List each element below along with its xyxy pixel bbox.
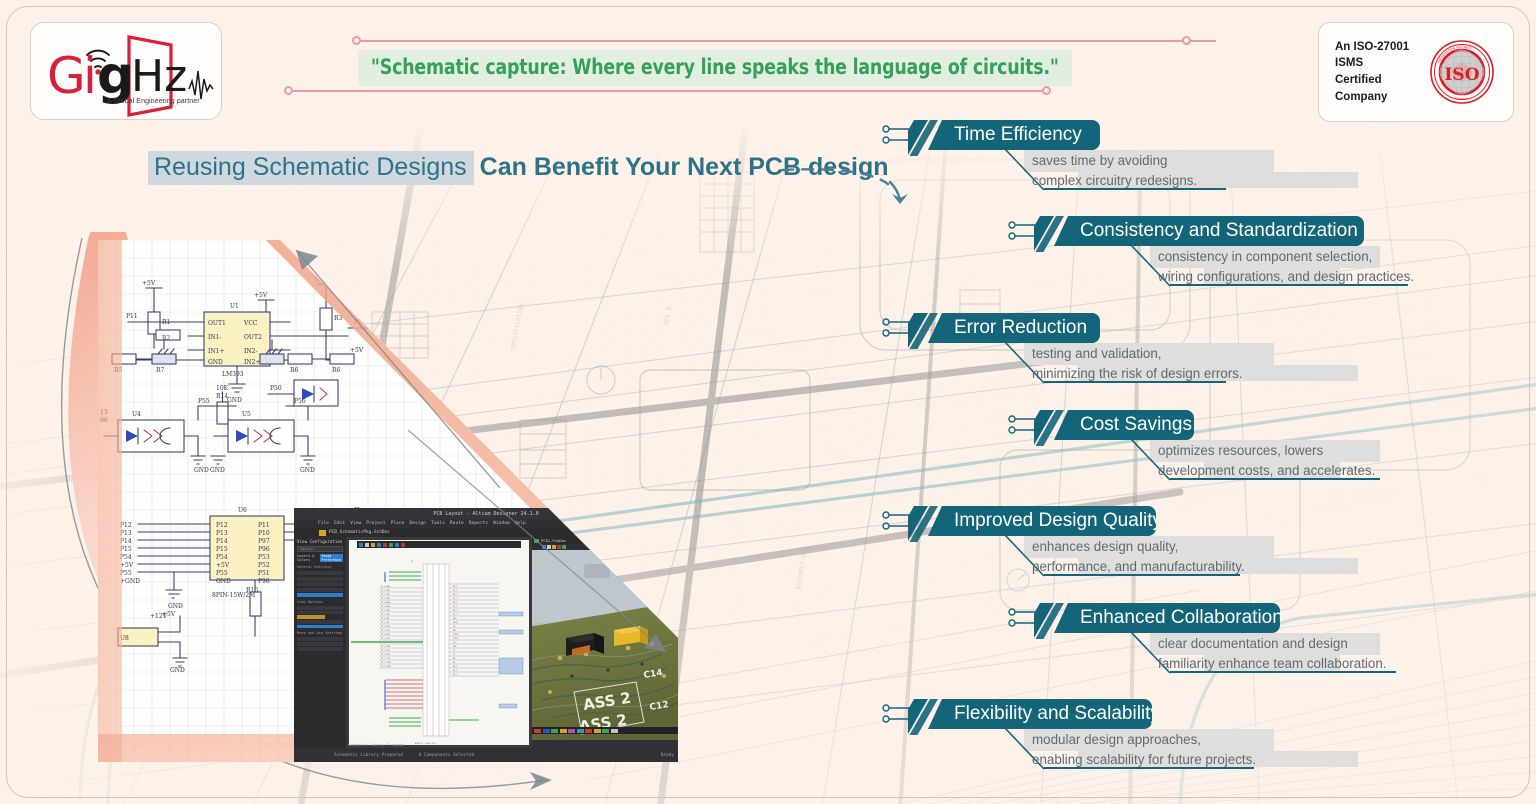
svg-text:+12V: +12V (150, 613, 168, 620)
quote-knob-top-right (1182, 36, 1191, 45)
iso-certification-badge[interactable]: An ISO-27001 ISMS Certified Company ISO (1318, 22, 1514, 122)
svg-text:P1.4/AD4: P1.4/AD4 (381, 601, 391, 604)
callout-flexibility-scalability[interactable]: Flexibility and Scalability modular desi… (882, 699, 1402, 769)
infographic-canvas: SPECIFICATION ASSEMBLY DWG REV A (0, 0, 1536, 804)
callout-error-reduction[interactable]: Error Reduction testing and validation, … (882, 313, 1402, 383)
callout-desc-line-1: clear documentation and design (1158, 634, 1387, 654)
svg-text:P1.0/AD0: P1.0/AD0 (381, 585, 391, 588)
svg-text:+5V: +5V (120, 562, 134, 569)
svg-text:P15: P15 (216, 546, 228, 553)
eda-view-row[interactable] (297, 606, 343, 610)
iso-seal-label: ISO (1444, 65, 1479, 85)
callout-description: modular design approaches, enabling scal… (1032, 730, 1256, 771)
svg-text:P4.2: P4.2 (453, 674, 458, 676)
svg-text:P2.3/A11: P2.3/A11 (381, 629, 391, 632)
svg-text:R2: R2 (162, 335, 171, 342)
svg-text:P12: P12 (120, 522, 132, 529)
svg-text:GND: GND (168, 603, 183, 610)
eda-doc-tab[interactable]: PCB_SchematicPkg.SchDoc (329, 530, 390, 535)
callout-improved-design-quality[interactable]: Improved Design Quality enhances design … (882, 506, 1402, 576)
eda-config-row[interactable] (297, 588, 343, 592)
eda-section-mask[interactable]: Mask and Dim Settings (294, 631, 346, 635)
eda-doc-icon (319, 530, 326, 536)
quote-knob-bottom-left (284, 86, 293, 95)
svg-text:P54: P54 (120, 554, 132, 561)
svg-text:P2.0/A8: P2.0/A8 (381, 617, 390, 620)
quote-rule-top (356, 40, 1216, 42)
svg-text:P15: P15 (120, 546, 132, 553)
callout-description: optimizes resources, lowers development … (1158, 441, 1375, 482)
iso-seal-arc-bottom: Certified (1454, 96, 1467, 101)
eda-menu-item[interactable]: File (318, 521, 329, 526)
schematic-collage: +5V+5V+5V R1R3 U1 OUT1VCC IN1-OUT2 IN1+I… (60, 232, 660, 804)
svg-text:P11: P11 (258, 522, 270, 529)
svg-text:U8: U8 (120, 635, 129, 642)
svg-text:P54: P54 (216, 554, 228, 561)
svg-text:P2.2/A10: P2.2/A10 (381, 625, 391, 628)
svg-text:P10: P10 (258, 530, 270, 537)
callout-desc-line-2: complex circuitry redesigns. (1032, 171, 1197, 191)
eda-section-view[interactable]: View Options (294, 600, 346, 604)
eda-mask-slider[interactable] (297, 647, 343, 651)
iso-seal: ISO INFORMATION SECURITY Certified (1429, 39, 1495, 105)
callout-time-efficiency[interactable]: Time Efficiency saves time by avoiding c… (882, 120, 1402, 190)
svg-text:G: G (47, 47, 86, 105)
eda-status-center: 0 Components Selected (419, 753, 475, 758)
svg-text:P3.2/INT0: P3.2/INT0 (381, 662, 392, 664)
callout-title[interactable]: Improved Design Quality (928, 506, 1156, 536)
iso-seal-graphic: ISO INFORMATION SECURITY Certified (1429, 39, 1495, 105)
svg-text:P1.5/AD5: P1.5/AD5 (381, 605, 390, 608)
svg-text:R16: R16 (246, 587, 258, 594)
svg-text:P14: P14 (120, 538, 132, 545)
svg-text:P55: P55 (120, 570, 132, 577)
eda-mask-slider[interactable] (297, 642, 343, 646)
svg-text:P1.6/AD6: P1.6/AD6 (381, 609, 391, 612)
iso-text-block: An ISO-27001 ISMS Certified Company (1319, 39, 1427, 106)
eda-doc-status: Schematic Library Prepared (348, 743, 404, 747)
page-title-highlight: Reusing Schematic Designs (148, 151, 474, 185)
callout-cost-savings[interactable]: Cost Savings optimizes resources, lowers… (1008, 410, 1418, 480)
svg-text:P96: P96 (258, 546, 270, 553)
callout-description: consistency in component selection, wiri… (1158, 247, 1414, 288)
eda-panel-title: View Configuration (294, 537, 346, 545)
eda-saved-pref-button[interactable]: Saved Preference (320, 554, 343, 562)
callout-desc-line-1: modular design approaches, (1032, 730, 1256, 750)
callout-title[interactable]: Cost Savings (1054, 410, 1194, 440)
svg-text:P3.1/TXD: P3.1/TXD (381, 658, 391, 660)
callout-title[interactable]: Error Reduction (928, 313, 1100, 343)
quote-text: "Schematic capture: Where every line spe… (358, 50, 1072, 86)
svg-text:AT89C51 / 8051 MCU: AT89C51 / 8051 MCU (415, 742, 436, 745)
svg-text:GND: GND (216, 578, 231, 585)
svg-text:P12: P12 (216, 522, 228, 529)
eda-view-config-panel[interactable]: View Configuration Search Layers & Color… (294, 537, 346, 748)
quote-knob-bottom-right (1042, 86, 1051, 95)
callout-desc-line-2: minimizing the risk of design errors. (1032, 364, 1243, 384)
eda-status-right: Ready (661, 753, 678, 758)
eda-config-row[interactable] (297, 571, 343, 575)
callout-enhanced-collaboration[interactable]: Enhanced Collaboration clear documentati… (1008, 603, 1418, 673)
callout-title[interactable]: Flexibility and Scalability (928, 699, 1152, 729)
svg-text:96: 96 (100, 417, 108, 424)
svg-text:P2.4/A12: P2.4/A12 (381, 633, 390, 636)
eda-menu-item[interactable]: Project (366, 521, 385, 526)
eda-menu-item[interactable]: View (350, 521, 361, 526)
eda-mask-slider[interactable] (297, 637, 343, 641)
eda-config-row[interactable] (297, 582, 343, 586)
svg-text:P2.6/A14: P2.6/A14 (381, 645, 391, 648)
svg-text:P14: P14 (216, 538, 228, 545)
eda-view-row-yellow[interactable] (297, 615, 325, 619)
svg-text:P1.1/AD1: P1.1/AD1 (381, 589, 391, 592)
callout-description: testing and validation, minimizing the r… (1032, 344, 1243, 385)
svg-text:+5V: +5V (216, 562, 230, 569)
logo-tagline: A Global Engineering partner (107, 98, 200, 105)
iso-line-2: Certified Company (1335, 72, 1427, 105)
eda-menu-item[interactable]: Edit (334, 521, 345, 526)
svg-text:+GND: +GND (120, 578, 140, 585)
callout-desc-line-2: wiring configurations, and design practi… (1158, 267, 1414, 287)
svg-text:P11: P11 (126, 313, 138, 320)
svg-text:REV A: REV A (663, 306, 673, 325)
collage-down-arrow (400, 422, 700, 662)
svg-text:P13: P13 (216, 530, 228, 537)
header-quote-zone: "Schematic capture: Where every line spe… (278, 28, 1218, 106)
svg-text:g: g (97, 46, 134, 106)
svg-text:P98: P98 (258, 578, 270, 585)
eda-search-input[interactable]: Search (297, 546, 343, 552)
svg-text:13: 13 (100, 409, 108, 416)
svg-text:P2.7/A15: P2.7/A15 (381, 649, 390, 652)
callout-desc-line-2: enabling scalability for future projects… (1032, 750, 1256, 770)
svg-text:P13: P13 (120, 530, 132, 537)
svg-text:P3.0/RXD: P3.0/RXD (381, 654, 391, 656)
callout-desc-line-1: enhances design quality, (1032, 537, 1245, 557)
svg-text:R1: R1 (162, 319, 170, 326)
eda-config-row-active[interactable] (297, 593, 343, 597)
eda-view-row[interactable] (297, 620, 343, 624)
callout-title[interactable]: Consistency and Standardization (1054, 216, 1364, 246)
callout-desc-line-1: testing and validation, (1032, 344, 1243, 364)
svg-text:U4: U4 (132, 411, 141, 418)
svg-text:P2.1/A9: P2.1/A9 (381, 621, 390, 624)
svg-text:P2.5/A13: P2.5/A13 (381, 637, 390, 640)
quote-knob-top-left (352, 36, 361, 45)
eda-section-layers[interactable]: Layers & Colors (297, 554, 318, 562)
svg-text:R7: R7 (156, 367, 165, 374)
eda-config-row[interactable] (297, 577, 343, 581)
callout-consistency-standardization[interactable]: Consistency and Standardization consiste… (1008, 216, 1418, 286)
svg-text:+5V: +5V (142, 280, 156, 287)
gighz-logo: G i g Hz (31, 23, 223, 121)
callout-description: saves time by avoiding complex circuitry… (1032, 151, 1197, 192)
callout-description: enhances design quality, performance, an… (1032, 537, 1245, 578)
title-dashed-arrow (778, 152, 918, 212)
eda-view-row[interactable] (297, 611, 343, 615)
callout-title[interactable]: Time Efficiency (928, 120, 1100, 150)
callout-desc-line-2: development costs, and accelerates. (1158, 461, 1375, 481)
svg-text:P97: P97 (258, 538, 270, 545)
svg-text:P1.2/AD2: P1.2/AD2 (381, 593, 390, 596)
svg-text:P1.7/AD7: P1.7/AD7 (381, 613, 390, 616)
callout-desc-line-1: consistency in component selection, (1158, 247, 1414, 267)
eda-status-left: Schematic Library Prepared (334, 753, 403, 758)
svg-text:i: i (83, 47, 97, 105)
callout-desc-line-2: performance, and manufacturability. (1032, 557, 1245, 577)
eda-view-row-active[interactable] (297, 625, 343, 629)
svg-text:P53: P53 (258, 554, 270, 561)
callout-desc-line-1: saves time by avoiding (1032, 151, 1197, 171)
svg-text:P51: P51 (258, 570, 270, 577)
svg-text:Hz: Hz (131, 51, 187, 102)
eda-layer-strip[interactable] (532, 727, 678, 734)
callout-description: clear documentation and design familiari… (1158, 634, 1387, 675)
svg-text:Certified: Certified (1454, 96, 1467, 101)
svg-text:R5: R5 (114, 367, 123, 374)
eda-section-general[interactable]: General Settings (294, 565, 346, 569)
quote-rule-bottom (288, 90, 1050, 92)
company-logo-card[interactable]: G i g Hz A Global Engineering partner (30, 22, 222, 120)
svg-text:P52: P52 (258, 562, 270, 569)
svg-text:P55: P55 (216, 570, 228, 577)
callout-desc-line-1: optimizes resources, lowers (1158, 441, 1375, 461)
eda-status-bar: Schematic Library Prepared 0 Components … (294, 748, 678, 762)
svg-text:GND: GND (170, 667, 185, 674)
iso-line-1: An ISO-27001 ISMS (1335, 39, 1427, 72)
callout-title[interactable]: Enhanced Collaboration (1054, 603, 1280, 633)
svg-text:P1.3/AD3: P1.3/AD3 (381, 597, 390, 600)
svg-text:P3.3/INT1: P3.3/INT1 (381, 666, 392, 668)
callout-desc-line-2: familiarity enhance team collaboration. (1158, 654, 1387, 674)
